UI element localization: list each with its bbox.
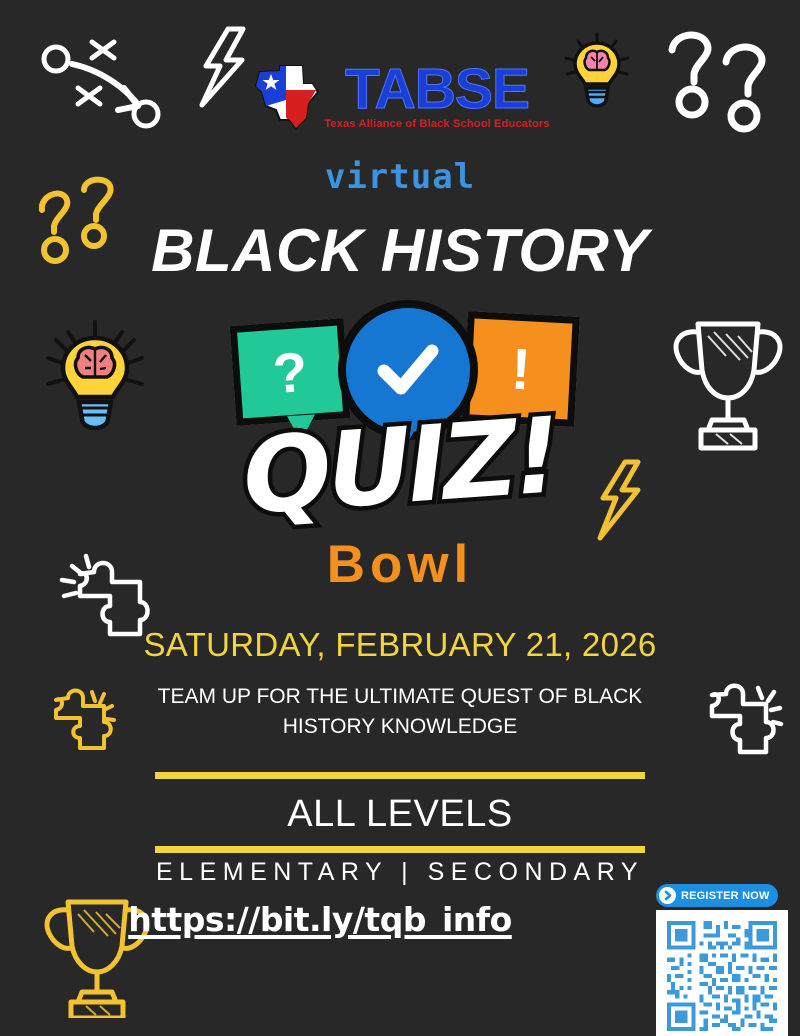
event-date: SATURDAY, FEBRUARY 21, 2026 — [0, 626, 800, 664]
register-now-label: REGISTER NOW — [681, 890, 770, 902]
exclamation-mark-glyph: ! — [510, 335, 533, 403]
lightning-bolt-yellow-icon — [595, 458, 645, 542]
signup-link[interactable]: https://bit.ly/tqb_info — [0, 900, 640, 939]
register-now-button[interactable]: REGISTER NOW — [656, 884, 778, 907]
register-block: REGISTER NOW — [656, 884, 788, 1036]
levels-list: ELEMENTARY | SECONDARY — [0, 858, 800, 887]
chevron-right-icon — [659, 887, 676, 904]
quiz-bowl-logo: ? ! QUIZ! Bowl — [205, 296, 595, 596]
event-flyer: TABSE Texas Alliance of Black School Edu… — [0, 0, 800, 1036]
qr-code-icon[interactable] — [656, 910, 788, 1036]
quiz-wordmark: QUIZ! — [202, 401, 598, 532]
tabse-wordmark: TABSE — [345, 62, 529, 116]
trophy-white-icon — [668, 308, 788, 453]
bowl-wordmark: Bowl — [205, 534, 595, 595]
levels-heading: ALL LEVELS — [0, 793, 800, 836]
virtual-label: virtual — [0, 157, 800, 197]
tabse-logo: TABSE Texas Alliance of Black School Edu… — [0, 58, 800, 134]
page-title: BLACK HISTORY — [0, 216, 800, 285]
texas-state-outline-icon — [250, 58, 322, 134]
tabse-tagline: Texas Alliance of Black School Educators — [324, 118, 549, 130]
question-mark-glyph: ? — [271, 338, 310, 405]
checkmark-icon — [371, 333, 445, 407]
puzzle-piece-yellow-left-icon — [38, 684, 118, 758]
divider-top — [155, 772, 645, 779]
puzzle-piece-white-right-icon — [698, 678, 784, 762]
divider-bottom — [155, 846, 645, 853]
event-subtitle: TEAM UP FOR THE ULTIMATE QUEST OF BLACK … — [110, 682, 690, 742]
lightbulb-brain-left-icon — [40, 318, 150, 436]
